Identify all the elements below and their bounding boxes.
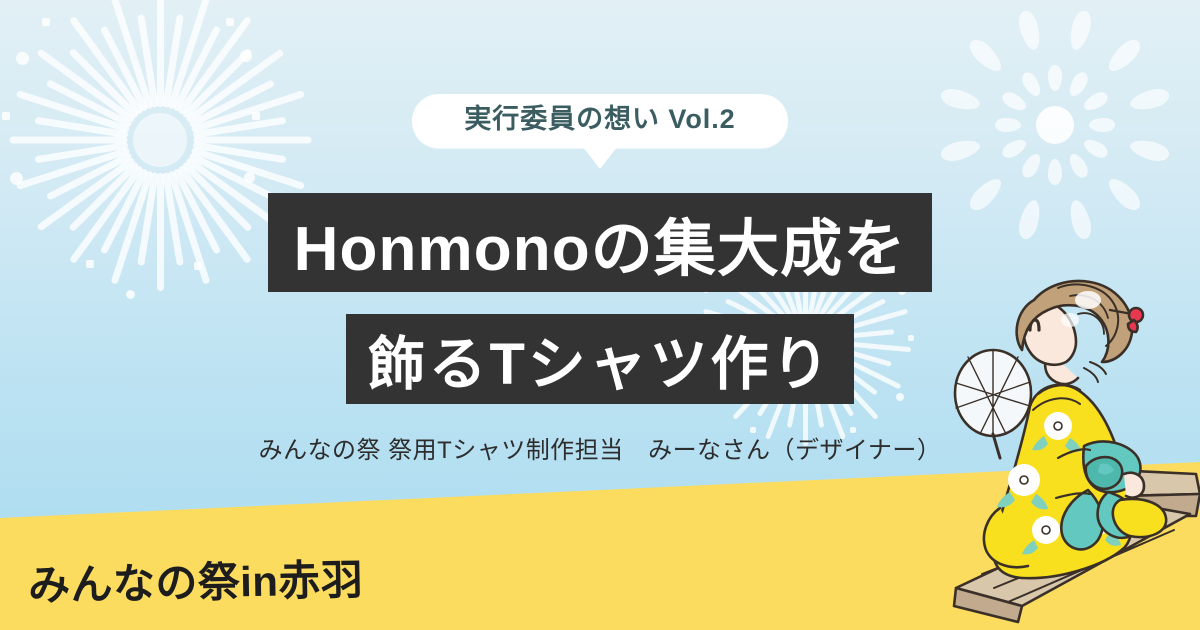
firework-petal — [1066, 9, 1094, 52]
firework-petal — [965, 35, 1006, 76]
firework-spark — [240, 50, 252, 62]
headline-line-1: Honmonoの集大成を — [268, 193, 933, 292]
yukata-woman-on-bench-illustration — [938, 258, 1200, 630]
firework-spark — [16, 52, 29, 65]
hand — [1124, 473, 1144, 498]
firework-petal — [1016, 9, 1044, 52]
headline-line-2: 飾るTシャツ作り — [346, 314, 855, 404]
firework-spark — [10, 172, 23, 185]
firework-spark — [42, 18, 50, 26]
firework-ray — [157, 0, 164, 107]
badge-label: 実行委員の想い Vol.2 — [464, 105, 735, 135]
firework-spark — [226, 18, 234, 26]
firework-petal — [1048, 65, 1062, 91]
sandal — [1113, 499, 1166, 537]
firework-petal — [1104, 35, 1145, 76]
event-logo: みんなの祭in赤羽 — [27, 546, 363, 613]
volume-badge: 実行委員の想い Vol.2 — [412, 94, 787, 148]
badge-tail-icon — [583, 147, 617, 169]
event-banner: 実行委員の想い Vol.2 Honmonoの集大成を 飾るTシャツ作り みんなの… — [0, 0, 1200, 630]
badge-container: 実行委員の想い Vol.2 — [0, 94, 1200, 169]
uchiwa-fan-icon — [955, 350, 1031, 458]
firework-spark — [244, 172, 255, 183]
